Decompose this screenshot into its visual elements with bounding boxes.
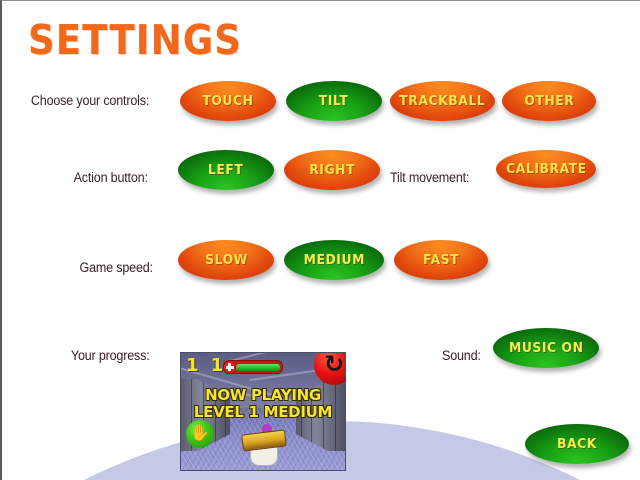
health-bar-fill [236, 364, 280, 371]
control-option-tilt-label: TILT [319, 93, 349, 109]
tilt-calibrate-label: CALIBRATE [506, 161, 587, 177]
hand-icon[interactable]: ✋ [186, 420, 214, 448]
thumbnail-score: 1 1 [186, 355, 226, 376]
action-option-left-label: LEFT [208, 162, 243, 178]
action-option-right[interactable]: RIGHT [284, 150, 380, 190]
speed-option-slow-label: SLOW [205, 252, 248, 268]
action-button-label: Action button: [74, 170, 148, 185]
control-option-touch[interactable]: TOUCH [180, 81, 276, 121]
back-button[interactable]: BACK [525, 424, 629, 464]
game-speed-label: Game speed: [80, 260, 153, 275]
speed-option-fast[interactable]: FAST [394, 240, 488, 280]
speed-option-slow[interactable]: SLOW [178, 240, 274, 280]
reset-glyph: ↻ [324, 352, 344, 376]
speed-option-medium[interactable]: MEDIUM [284, 240, 384, 280]
tilt-movement-label: Tilt movement: [390, 170, 469, 185]
speed-option-medium-label: MEDIUM [303, 252, 364, 268]
back-button-label: BACK [557, 436, 597, 452]
control-option-trackball[interactable]: TRACKBALL [390, 81, 495, 121]
sound-label: Sound: [442, 348, 481, 363]
speed-option-fast-label: FAST [423, 252, 459, 268]
progress-thumbnail[interactable]: 1 1 ↻ ✋ NOW PLAYING LEVEL 1 MEDIUM [180, 352, 346, 471]
tilt-calibrate-button[interactable]: CALIBRATE [496, 150, 596, 188]
control-option-other-label: OTHER [524, 93, 574, 109]
controls-label: Choose your controls: [31, 93, 149, 108]
sound-music-label: MUSIC ON [509, 340, 584, 356]
action-option-right-label: RIGHT [309, 162, 355, 178]
action-option-left[interactable]: LEFT [178, 150, 274, 190]
thumbnail-health-bar [223, 360, 283, 374]
hand-glyph: ✋ [190, 426, 210, 442]
health-cross-icon [224, 362, 235, 373]
progress-label: Your progress: [71, 348, 150, 363]
page-title: SETTINGS [28, 18, 242, 64]
thumbnail-caption-line2: LEVEL 1 MEDIUM [181, 404, 345, 421]
control-option-tilt[interactable]: TILT [286, 81, 382, 121]
control-option-trackball-label: TRACKBALL [400, 93, 486, 109]
thumbnail-caption: NOW PLAYING LEVEL 1 MEDIUM [181, 387, 345, 421]
control-option-touch-label: TOUCH [202, 93, 253, 109]
control-option-other[interactable]: OTHER [502, 81, 596, 121]
sound-music-toggle[interactable]: MUSIC ON [493, 328, 599, 368]
content-layer: SETTINGS Choose your controls: TOUCH TIL… [2, 1, 640, 480]
settings-screen: SETTINGS Choose your controls: TOUCH TIL… [0, 0, 640, 480]
thumbnail-character [240, 424, 286, 466]
thumbnail-caption-line1: NOW PLAYING [181, 387, 345, 404]
